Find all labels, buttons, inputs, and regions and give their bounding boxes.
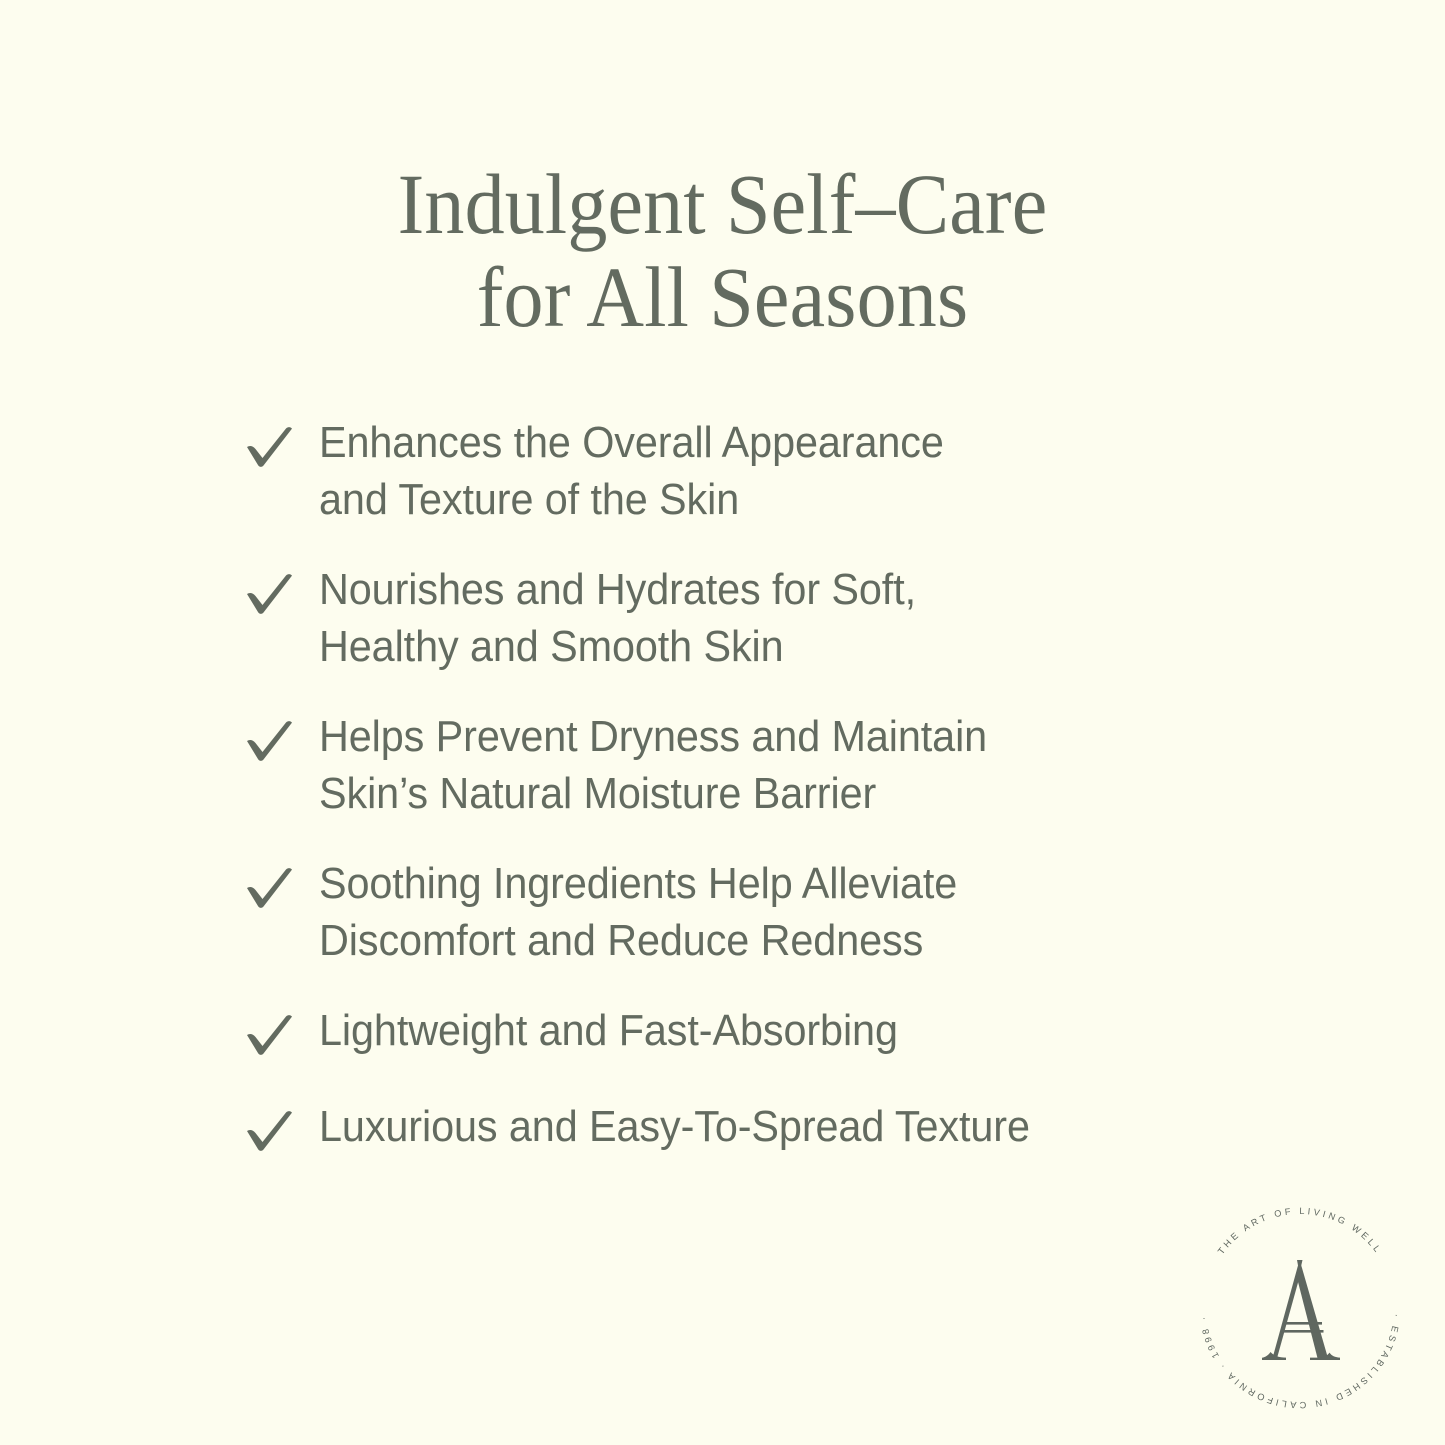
list-item-label: Nourishes and Hydrates for Soft, Healthy… (319, 561, 1150, 675)
badge-monogram-glyph (1262, 1260, 1340, 1360)
list-item-label: Lightweight and Fast-Absorbing (319, 1002, 1150, 1059)
page-title: Indulgent Self–Care for All Seasons (0, 158, 1445, 344)
benefits-list: Enhances the Overall Appearance and Text… (243, 414, 1203, 1194)
list-item-label: Soothing Ingredients Help Alleviate Disc… (319, 855, 1150, 969)
check-icon (243, 420, 319, 480)
badge-top-text: THE ART OF LIVING WELL (1216, 1206, 1384, 1256)
list-item: Enhances the Overall Appearance and Text… (243, 414, 1203, 528)
list-item-label: Helps Prevent Dryness and Maintain Skin’… (319, 708, 1150, 822)
check-icon (243, 1104, 319, 1164)
brand-badge: THE ART OF LIVING WELL · ESTABLISHED IN … (1180, 1188, 1420, 1428)
check-icon (243, 1008, 319, 1068)
page-title-line-1: Indulgent Self–Care (51, 158, 1395, 251)
poster-canvas: Indulgent Self–Care for All Seasons Enha… (0, 0, 1445, 1445)
list-item: Lightweight and Fast-Absorbing (243, 1002, 1203, 1068)
list-item: Soothing Ingredients Help Alleviate Disc… (243, 855, 1203, 969)
list-item-label: Luxurious and Easy-To-Spread Texture (319, 1098, 1150, 1155)
list-item: Helps Prevent Dryness and Maintain Skin’… (243, 708, 1203, 822)
list-item-label: Enhances the Overall Appearance and Text… (319, 414, 1150, 528)
list-item: Nourishes and Hydrates for Soft, Healthy… (243, 561, 1203, 675)
check-icon (243, 861, 319, 921)
check-icon (243, 567, 319, 627)
list-item: Luxurious and Easy-To-Spread Texture (243, 1098, 1203, 1164)
check-icon (243, 714, 319, 774)
badge-bottom-text: · ESTABLISHED IN CALIFORNIA · 1998 · (1198, 1313, 1402, 1410)
page-title-line-2: for All Seasons (51, 251, 1395, 344)
